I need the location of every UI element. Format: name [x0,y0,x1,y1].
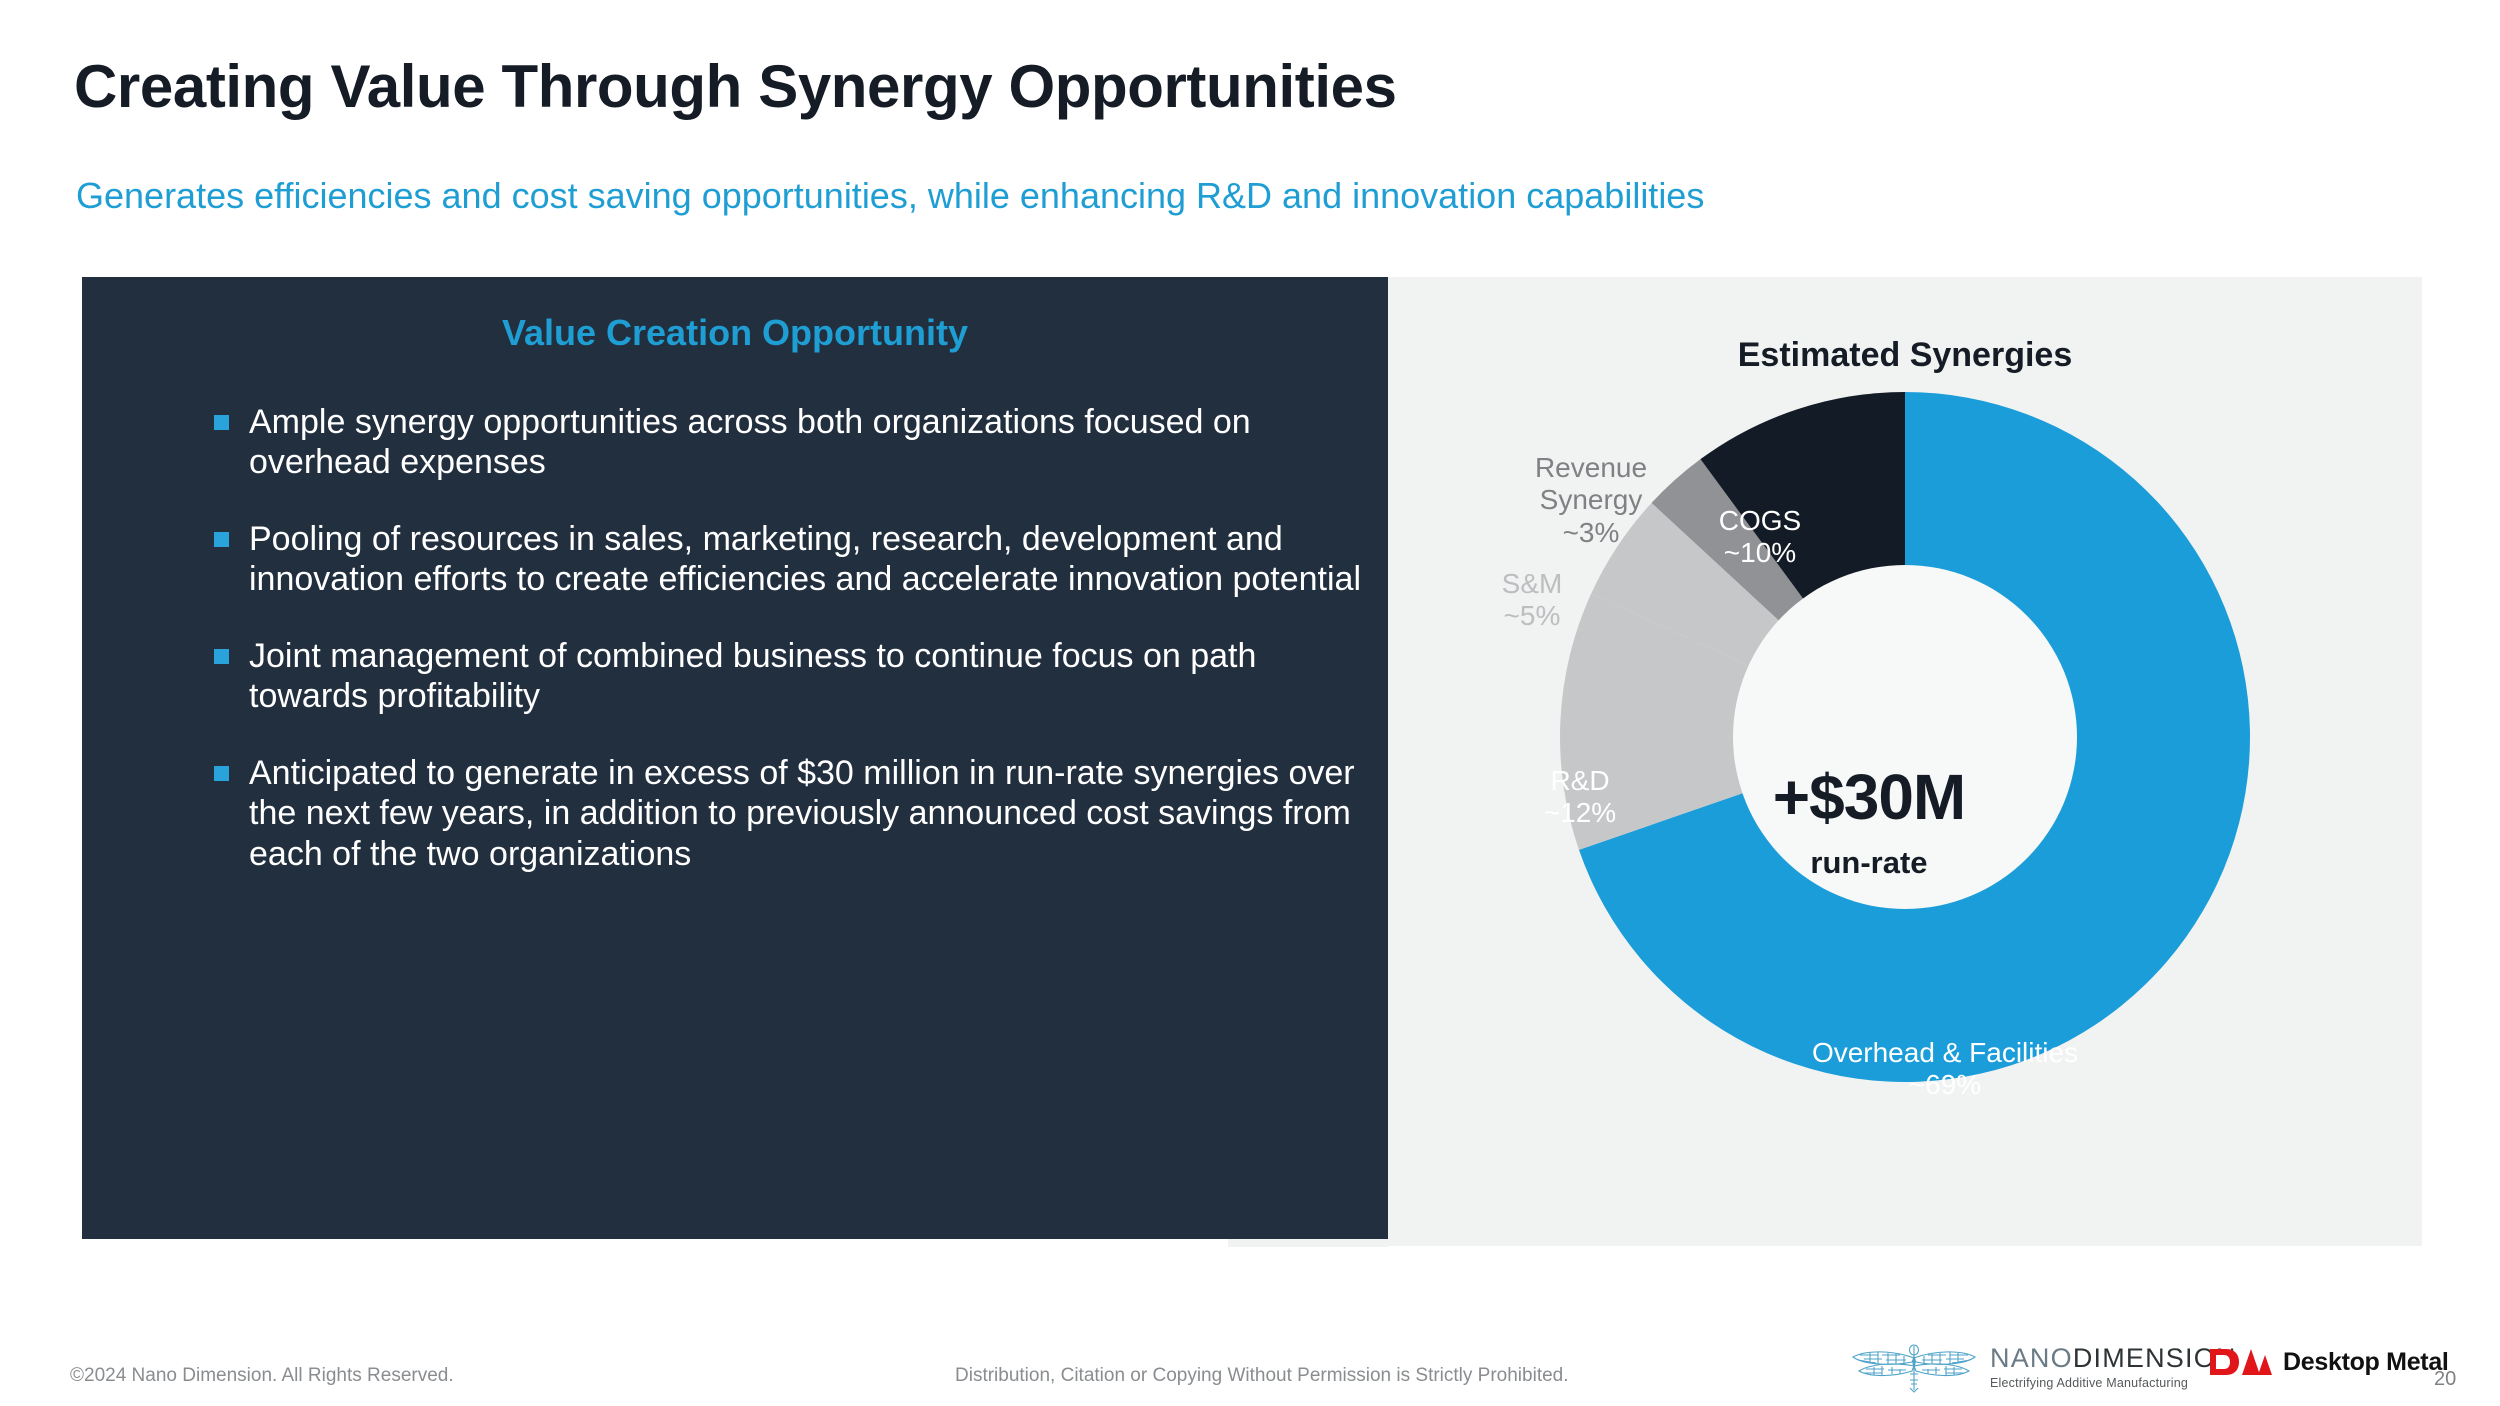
dragonfly-icon [1848,1338,1980,1394]
footer-copyright: ©2024 Nano Dimension. All Rights Reserve… [70,1365,454,1387]
bullet-list: Ample synergy opportunities across both … [212,402,1372,874]
slice-label-overhead-facilities: Overhead & Facilities ~69% [1730,1037,2160,1102]
nano-dimension-wordmark: NANODIMENSION [1990,1345,2237,1372]
donut-center-sublabel: run-rate [1704,845,2034,881]
list-item: Ample synergy opportunities across both … [212,402,1372,483]
value-creation-panel: Value Creation Opportunity Ample synergy… [82,277,1388,1239]
chart-title: Estimated Synergies [1388,336,2422,375]
desktop-metal-wordmark: Desktop Metal [2283,1348,2449,1377]
page-title: Creating Value Through Synergy Opportuni… [74,52,1397,121]
nano-wordmark-part1: NANO [1990,1343,2073,1373]
list-item-text: Joint management of combined business to… [249,637,1256,715]
page-subtitle: Generates efficiencies and cost saving o… [76,175,1704,217]
list-item-text: Pooling of resources in sales, marketing… [249,520,1361,598]
square-bullet-icon [214,532,229,547]
donut-center-value: +$30M [1704,760,2034,834]
list-item: Joint management of combined business to… [212,636,1372,717]
slice-label-rnd: R&D ~12% [1490,765,1670,830]
nano-dimension-logo: NANODIMENSION Electrifying Additive Manu… [1848,1338,2237,1394]
square-bullet-icon [214,415,229,430]
desktop-metal-logo: Desktop Metal [2210,1346,2449,1378]
slice-label-cogs: COGS ~10% [1660,505,1860,570]
slice-label-sm: S&M ~5% [1432,568,1632,633]
list-item-text: Ample synergy opportunities across both … [249,403,1251,481]
list-item-text: Anticipated to generate in excess of $30… [249,754,1355,873]
square-bullet-icon [214,649,229,664]
footer-distribution-notice: Distribution, Citation or Copying Withou… [955,1365,1569,1387]
desktop-metal-mark-icon [2210,1346,2272,1378]
nano-dimension-tagline: Electrifying Additive Manufacturing [1990,1377,2237,1390]
square-bullet-icon [214,766,229,781]
slide: Creating Value Through Synergy Opportuni… [0,0,2500,1406]
list-item: Pooling of resources in sales, marketing… [212,519,1372,600]
panel-underlay-strip [1228,1239,1388,1247]
panel-heading: Value Creation Opportunity [82,312,1388,354]
list-item: Anticipated to generate in excess of $30… [212,753,1372,874]
